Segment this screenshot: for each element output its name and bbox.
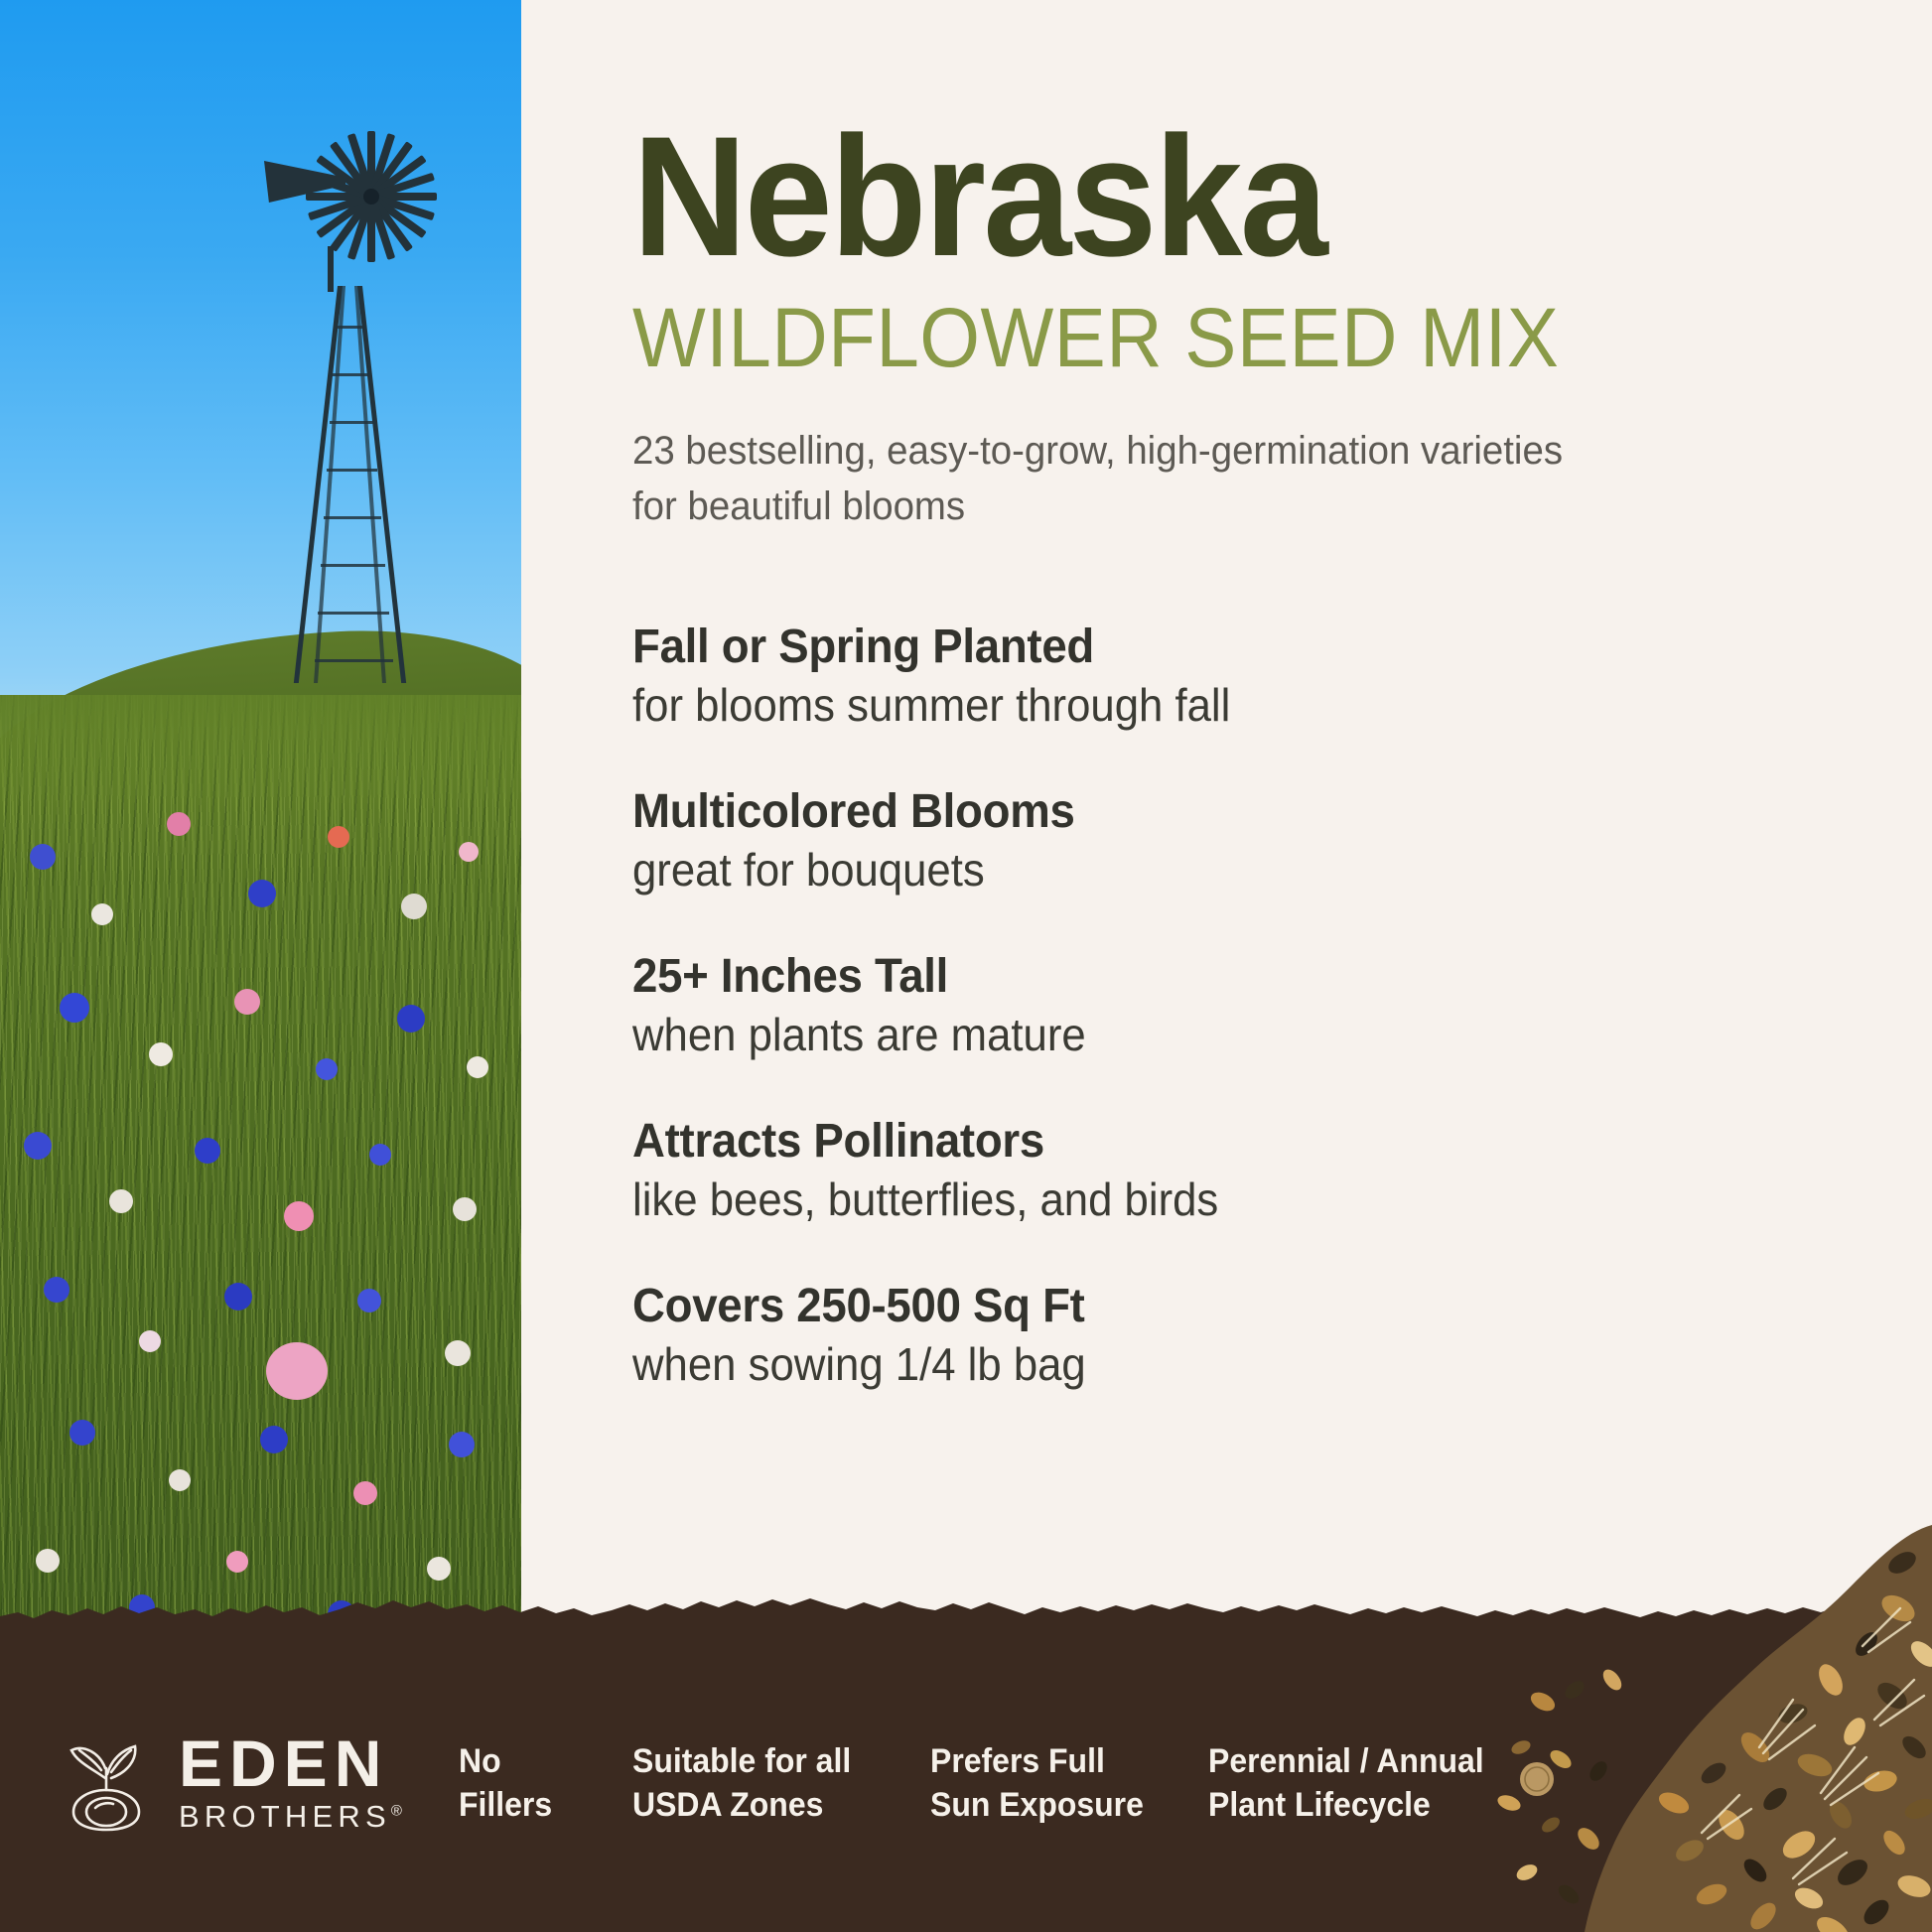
hero-photo — [0, 0, 521, 1747]
feature-item: 25+ Inches Tall when plants are mature — [632, 950, 1872, 1061]
content-panel: Nebraska WILDFLOWER SEED MIX 23 bestsell… — [521, 0, 1932, 1747]
feature-item: Attracts Pollinators like bees, butterfl… — [632, 1115, 1872, 1226]
badge-line-2: Fillers — [459, 1783, 622, 1827]
status-badge: No Fillers — [459, 1739, 622, 1827]
badge-line-1: Suitable for all — [632, 1739, 912, 1783]
footer-badge-list: No Fillers Suitable for all USDA Zones P… — [459, 1739, 1932, 1827]
badge-line-1: No — [459, 1739, 622, 1783]
badge-line-2: USDA Zones — [632, 1783, 912, 1827]
feature-item: Multicolored Blooms great for bouquets — [632, 785, 1872, 897]
registered-trademark-icon: ® — [391, 1802, 402, 1819]
badge-line-1: Prefers Full — [930, 1739, 1191, 1783]
status-badge: Prefers Full Sun Exposure — [930, 1739, 1191, 1827]
feature-detail: like bees, butterflies, and birds — [632, 1173, 1811, 1226]
status-badge: Perennial / Annual Plant Lifecycle — [1208, 1739, 1516, 1827]
feature-heading: Multicolored Blooms — [632, 785, 1811, 839]
page-title: Nebraska — [632, 117, 1786, 278]
feature-detail: for blooms summer through fall — [632, 678, 1811, 732]
badge-line-2: Sun Exposure — [930, 1783, 1191, 1827]
page-description: 23 bestselling, easy-to-grow, high-germi… — [632, 423, 1604, 536]
feature-list: Fall or Spring Planted for blooms summer… — [632, 621, 1872, 1391]
windmill-icon — [260, 127, 439, 683]
feature-heading: Attracts Pollinators — [632, 1115, 1811, 1169]
feature-detail: great for bouquets — [632, 843, 1811, 897]
page-subtitle: WILDFLOWER SEED MIX — [632, 296, 1786, 379]
windmill-rotor — [302, 127, 441, 266]
feature-heading: Covers 250-500 Sq Ft — [632, 1280, 1811, 1333]
feature-item: Fall or Spring Planted for blooms summer… — [632, 621, 1872, 732]
badge-line-1: Perennial / Annual — [1208, 1739, 1516, 1783]
feature-detail: when plants are mature — [632, 1008, 1811, 1061]
feature-item: Covers 250-500 Sq Ft when sowing 1/4 lb … — [632, 1280, 1872, 1391]
logo-primary-text: EDEN — [179, 1732, 402, 1795]
torn-soil-edge-icon — [0, 1588, 1932, 1638]
status-badge: Suitable for all USDA Zones — [632, 1739, 912, 1827]
footer-bar: EDEN BROTHERS® No Fillers Suitable for a… — [0, 1634, 1932, 1932]
logo-secondary-text: BROTHERS — [179, 1799, 391, 1834]
infographic-canvas: Nebraska WILDFLOWER SEED MIX 23 bestsell… — [0, 0, 1932, 1932]
badge-line-2: Plant Lifecycle — [1208, 1783, 1516, 1827]
feature-heading: 25+ Inches Tall — [632, 950, 1811, 1004]
windmill-tower — [294, 286, 405, 683]
feature-detail: when sowing 1/4 lb bag — [632, 1337, 1811, 1391]
brand-logo[interactable]: EDEN BROTHERS® — [62, 1732, 459, 1833]
feature-heading: Fall or Spring Planted — [632, 621, 1811, 674]
seedling-sprout-icon — [62, 1734, 153, 1832]
